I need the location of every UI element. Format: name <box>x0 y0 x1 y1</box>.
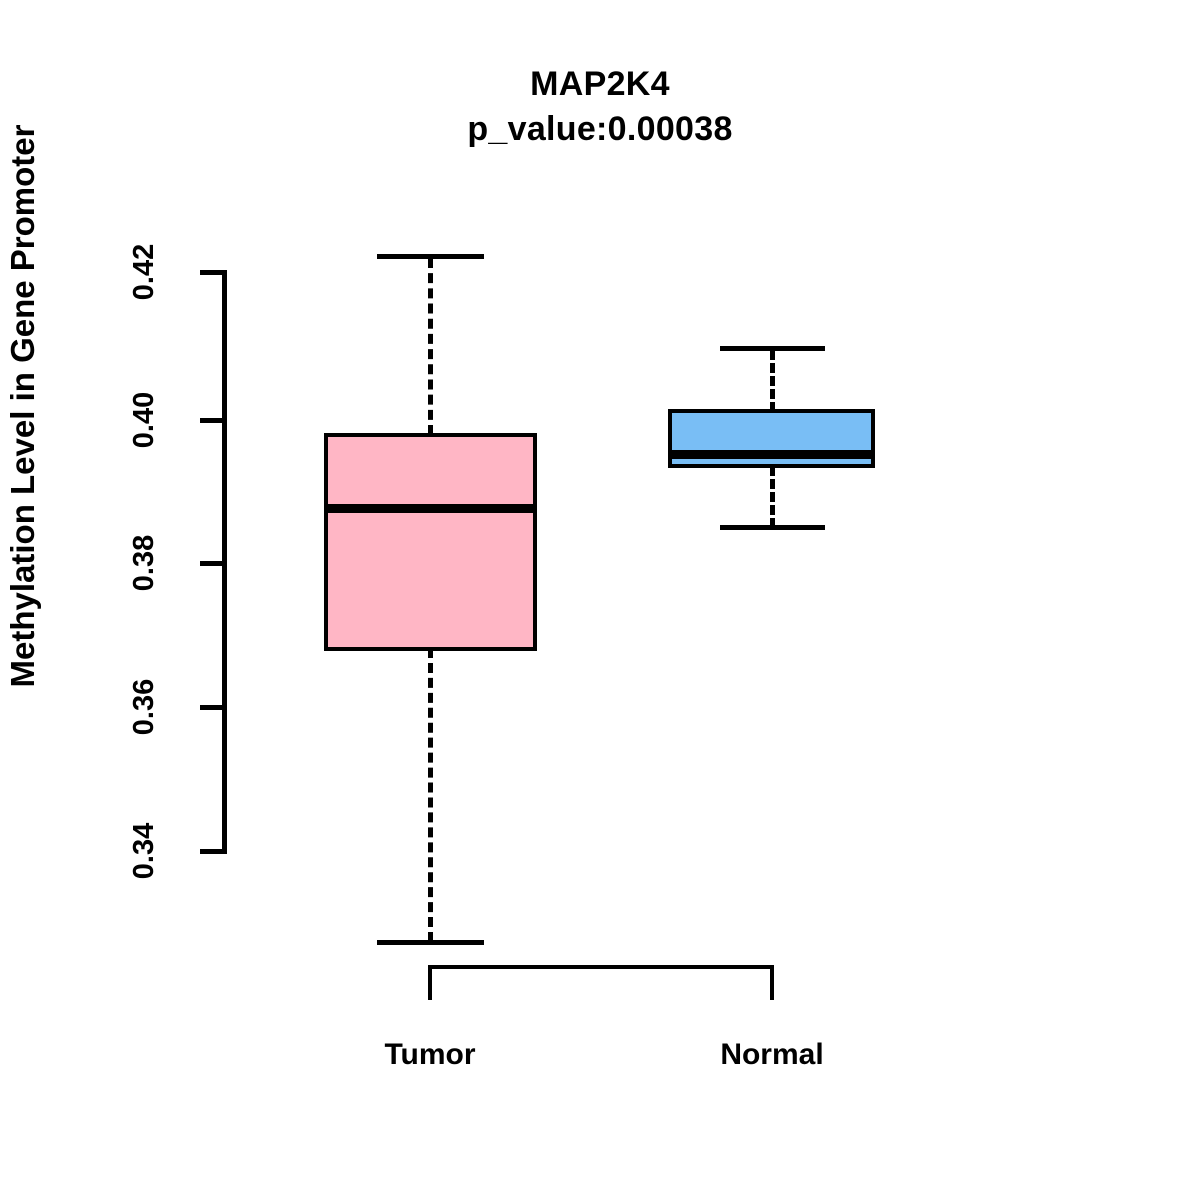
y-axis-label-0.42: 0.42 <box>129 212 159 332</box>
x-axis-tick-tumor <box>428 965 432 1000</box>
y-axis-label-0.36: 0.36 <box>129 647 159 767</box>
normal-lower-whisker <box>770 466 775 528</box>
tumor-upper-whisker-cap <box>377 254 484 259</box>
normal-upper-whisker-cap <box>720 346 825 351</box>
y-axis-label-0.40: 0.40 <box>129 360 159 480</box>
chart-subtitle-pvalue: p_value:0.00038 <box>0 106 1200 152</box>
y-axis-tick-0.40 <box>200 418 227 423</box>
chart-title-block: MAP2K4 p_value:0.00038 <box>0 62 1200 152</box>
tumor-median-line <box>324 504 537 513</box>
y-axis-tick-0.42 <box>200 270 227 275</box>
normal-median-line <box>668 450 875 459</box>
y-axis-tick-0.36 <box>200 705 227 710</box>
y-axis-label-0.38: 0.38 <box>129 503 159 623</box>
x-axis-label-normal: Normal <box>622 1038 922 1072</box>
y-axis-title: Methylation Level in Gene Promoter <box>0 0 46 1006</box>
tumor-upper-whisker <box>428 258 433 435</box>
y-axis-tick-0.38 <box>200 561 227 566</box>
normal-upper-whisker <box>770 350 775 412</box>
tumor-box <box>324 433 537 651</box>
x-axis-tick-normal <box>770 965 774 1000</box>
y-axis-label-0.34: 0.34 <box>129 791 159 911</box>
normal-lower-whisker-cap <box>720 525 825 530</box>
y-axis-tick-0.34 <box>200 849 227 854</box>
tumor-lower-whisker <box>428 648 433 942</box>
x-axis-label-tumor: Tumor <box>280 1038 580 1072</box>
boxplot-figure: MAP2K4 p_value:0.00038 Methylation Level… <box>0 0 1200 1200</box>
tumor-lower-whisker-cap <box>377 940 484 945</box>
chart-title: MAP2K4 <box>0 62 1200 106</box>
x-axis-line <box>428 965 774 969</box>
normal-box <box>668 409 875 468</box>
